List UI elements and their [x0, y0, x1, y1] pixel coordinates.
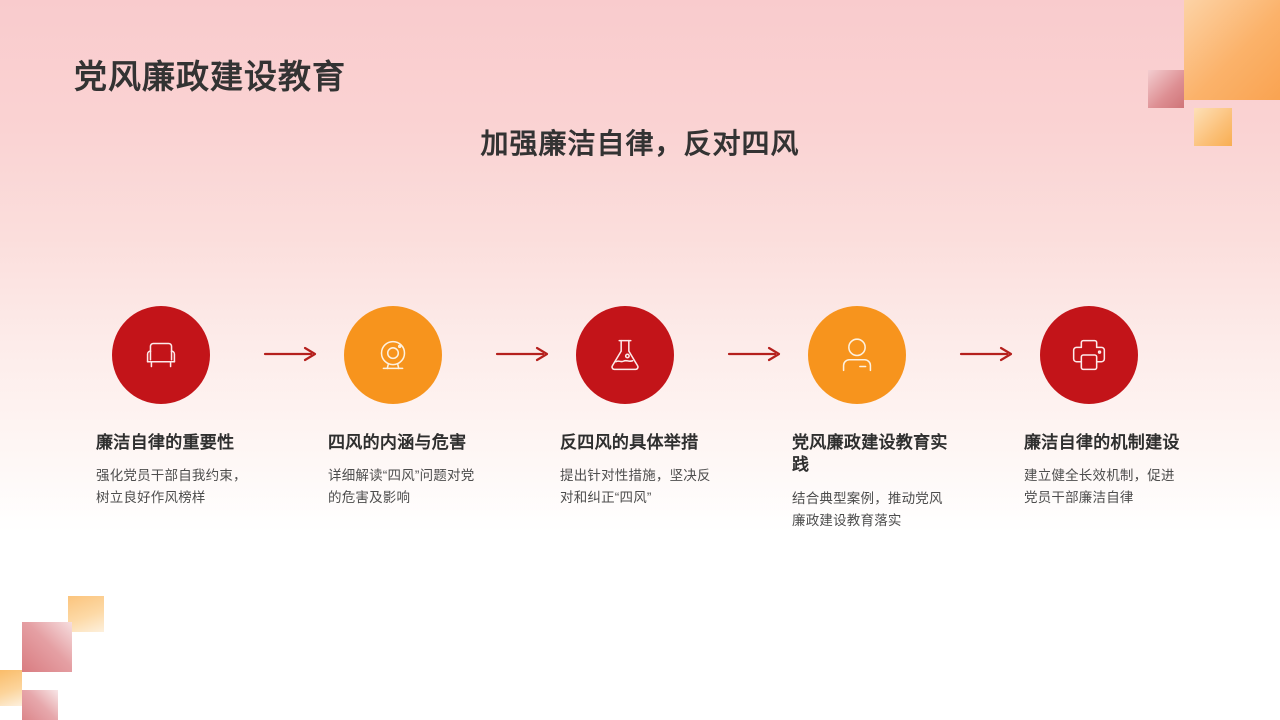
flow-step-3-title: 反四风的具体举措 — [560, 432, 720, 454]
flow-arrow-2 — [488, 346, 560, 362]
page-subtitle: 加强廉洁自律，反对四风 — [0, 122, 1280, 162]
page-title: 党风廉政建设教育 — [74, 57, 346, 97]
flow-arrow-1 — [256, 346, 328, 362]
flow-step-1-title: 廉洁自律的重要性 — [96, 432, 256, 454]
flow-step-4-badge — [808, 306, 906, 404]
flow-arrow-4 — [952, 346, 1024, 362]
armchair-icon — [138, 332, 184, 378]
arrow-right-icon — [263, 346, 321, 362]
decor-square-bottom-left-red-large — [22, 622, 72, 672]
flow-step-2-badge — [344, 306, 442, 404]
flow-step-3-badge — [576, 306, 674, 404]
flow-step-4-description: 结合典型案例，推动党风廉政建设教育落实 — [792, 488, 952, 532]
printer-icon — [1066, 332, 1112, 378]
flow-step-1[interactable]: 廉洁自律的重要性 强化党员干部自我约束，树立良好作风榜样 — [96, 306, 256, 509]
flow-step-3-description: 提出针对性措施，坚决反对和纠正“四风” — [560, 465, 720, 509]
flow-step-1-description: 强化党员干部自我约束，树立良好作风榜样 — [96, 465, 256, 509]
flow-step-5[interactable]: 廉洁自律的机制建设 建立健全长效机制，促进党员干部廉洁自律 — [1024, 306, 1184, 509]
slide-canvas: 党风廉政建设教育 加强廉洁自律，反对四风 廉洁自律的重要性 强化党员干部自我约束… — [0, 0, 1280, 720]
flow-step-2-title: 四风的内涵与危害 — [328, 432, 488, 454]
flow-arrow-3 — [720, 346, 792, 362]
decor-square-bottom-left-orange-upper — [68, 596, 104, 632]
decor-square-bottom-left-orange-edge — [0, 670, 22, 706]
arrow-right-icon — [959, 346, 1017, 362]
process-flow: 廉洁自律的重要性 强化党员干部自我约束，树立良好作风榜样 四风 — [96, 306, 1186, 532]
flow-step-2[interactable]: 四风的内涵与危害 详细解读“四风”问题对党的危害及影响 — [328, 306, 488, 509]
decor-square-top-right-orange-large — [1184, 0, 1280, 100]
flow-step-3[interactable]: 反四风的具体举措 提出针对性措施，坚决反对和纠正“四风” — [560, 306, 720, 509]
decor-square-top-right-red-small — [1148, 70, 1184, 108]
flow-step-5-title: 廉洁自律的机制建设 — [1024, 432, 1184, 454]
user-icon — [834, 332, 880, 378]
flow-step-4-title: 党风廉政建设教育实践 — [792, 432, 952, 477]
flow-step-4[interactable]: 党风廉政建设教育实践 结合典型案例，推动党风廉政建设教育落实 — [792, 306, 952, 532]
flask-icon — [602, 332, 648, 378]
arrow-right-icon — [727, 346, 785, 362]
flow-step-2-description: 详细解读“四风”问题对党的危害及影响 — [328, 465, 488, 509]
webcam-icon — [370, 332, 416, 378]
arrow-right-icon — [495, 346, 553, 362]
flow-step-5-description: 建立健全长效机制，促进党员干部廉洁自律 — [1024, 465, 1184, 509]
flow-step-5-badge — [1040, 306, 1138, 404]
decor-square-bottom-left-red-small — [22, 690, 58, 720]
flow-step-1-badge — [112, 306, 210, 404]
